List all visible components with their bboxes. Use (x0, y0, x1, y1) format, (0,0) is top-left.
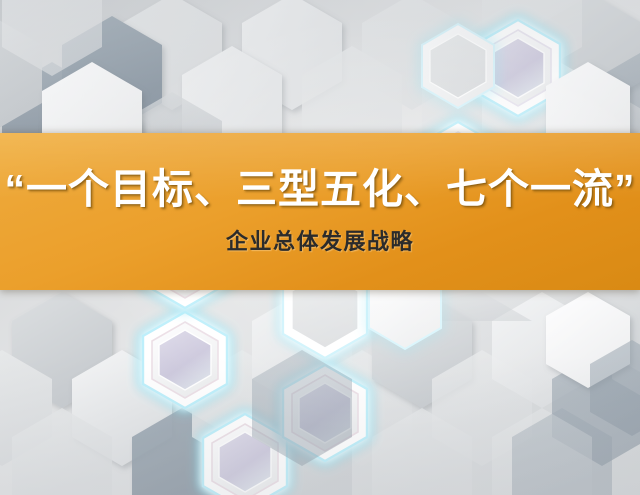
page-title: “一个目标、三型五化、七个一流” (5, 167, 636, 211)
page-subtitle: 企业总体发展战略 (226, 224, 414, 256)
glow-hexagon (422, 24, 494, 108)
title-banner: “一个目标、三型五化、七个一流” 企业总体发展战略 (0, 133, 640, 290)
glow-hexagon (143, 312, 227, 408)
slide-canvas: “一个目标、三型五化、七个一流” 企业总体发展战略 (0, 0, 640, 495)
